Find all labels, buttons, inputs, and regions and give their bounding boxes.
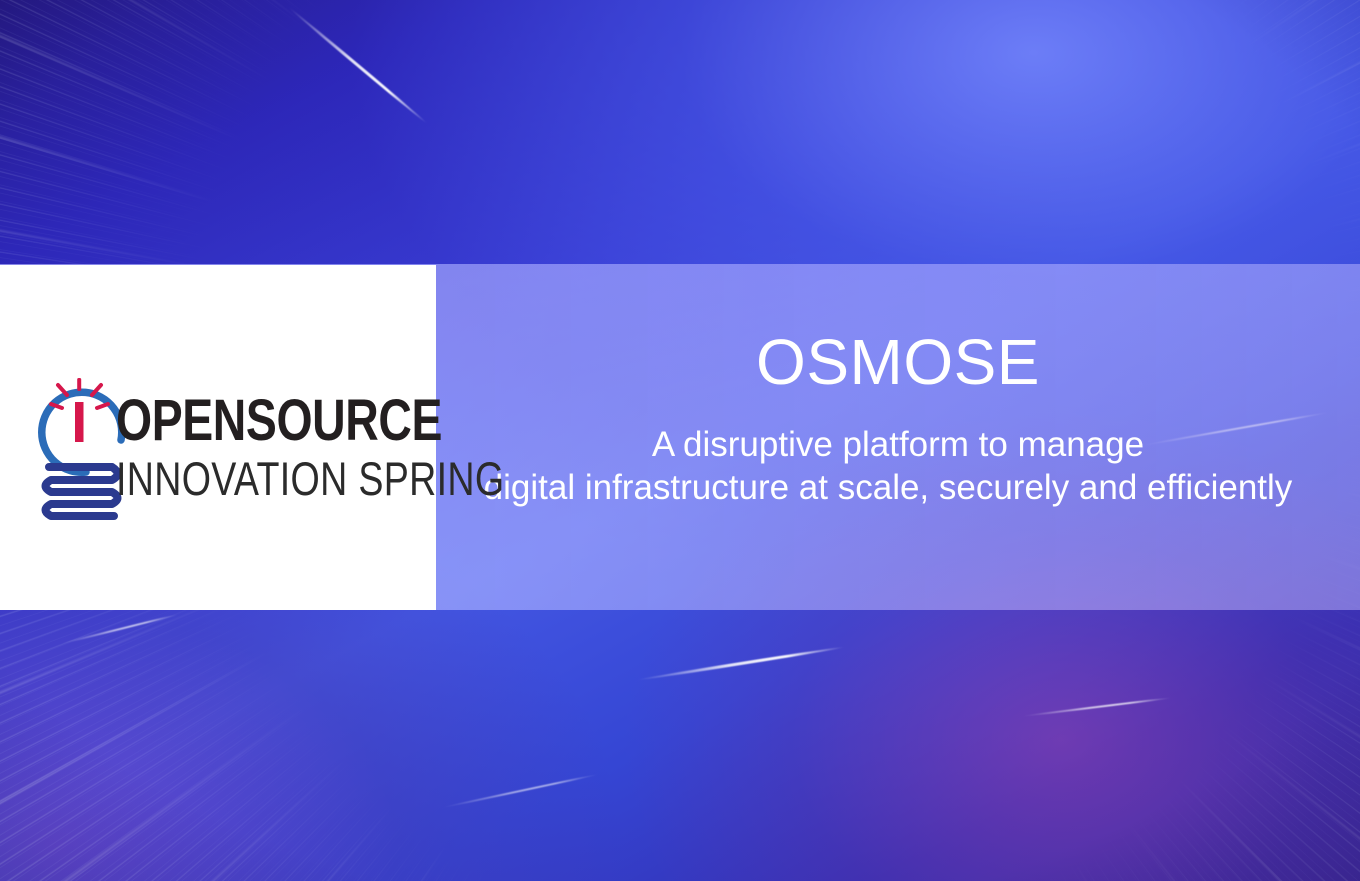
opensource-innovation-spring-logo: OPENSOURCE INNOVATION SPRING — [28, 348, 408, 528]
page-subtitle-line2: digital infrastructure at scale, securel… — [484, 467, 1293, 510]
page-subtitle-line1: A disruptive platform to manage — [504, 424, 1293, 467]
page-subtitle: A disruptive platform to manage digital … — [504, 424, 1293, 509]
logo-wordmark-line2: INNOVATION SPRING — [116, 455, 356, 502]
page-title: OSMOSE — [756, 330, 1040, 394]
title-slide: OPENSOURCE INNOVATION SPRING OSMOSE A di… — [0, 0, 1360, 881]
logo-panel: OPENSOURCE INNOVATION SPRING — [0, 265, 436, 610]
logo-wordmark: OPENSOURCE INNOVATION SPRING — [116, 392, 416, 502]
title-text-block: OSMOSE A disruptive platform to manage d… — [436, 264, 1360, 610]
logo-wordmark-line1: OPENSOURCE — [116, 392, 356, 450]
